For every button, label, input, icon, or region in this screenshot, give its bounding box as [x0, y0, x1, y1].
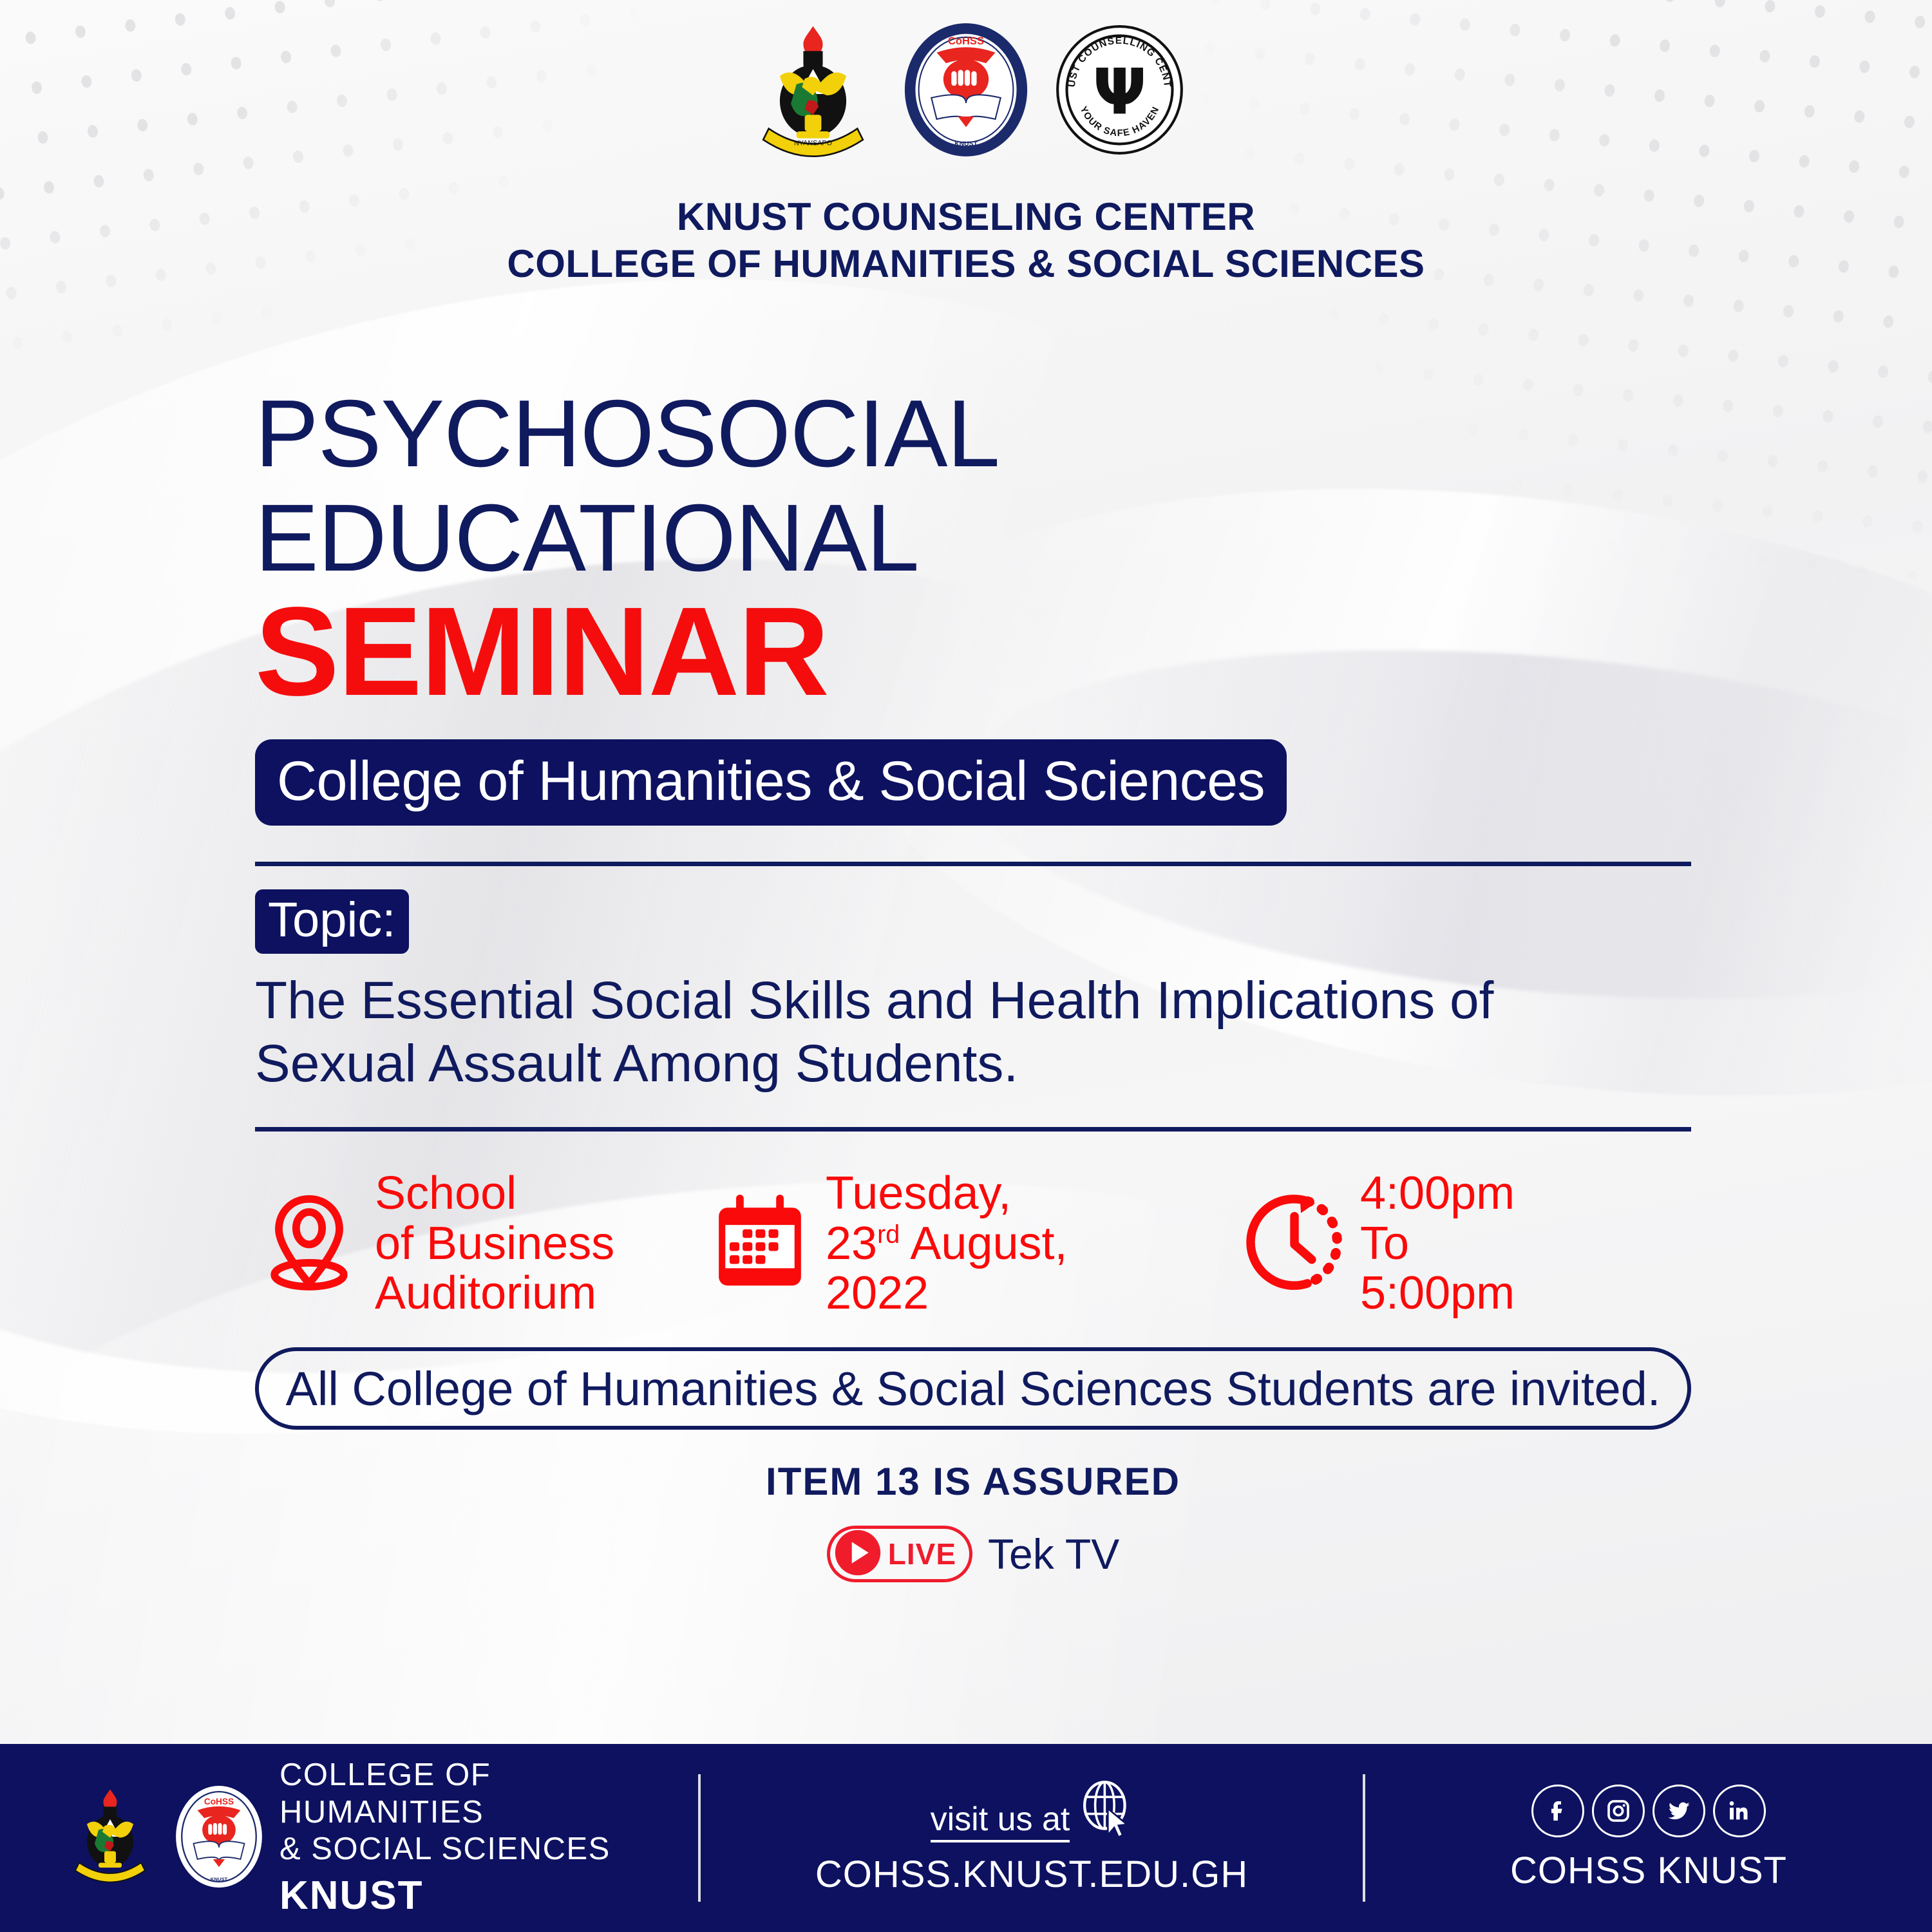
twitter-icon[interactable] [1653, 1785, 1705, 1837]
footer-social-block: COHSS KNUST [1365, 1785, 1932, 1892]
org-name-line2: COLLEGE OF HUMANITIES & SOCIAL SCIENCES [0, 240, 1932, 287]
detail-location: School of Business Auditorium [255, 1169, 706, 1319]
topic-label-text: Topic: [268, 893, 396, 947]
item-13-note: ITEM 13 IS ASSURED [255, 1459, 1691, 1504]
clock-icon [1240, 1188, 1349, 1300]
college-banner: College of Humanities & Social Sciences [255, 739, 1287, 826]
time-end: 5:00pm [1360, 1269, 1515, 1319]
location-pin-icon [255, 1188, 363, 1300]
footer-college-line2: & SOCIAL SCIENCES [279, 1831, 698, 1868]
social-handle: COHSS KNUST [1510, 1849, 1787, 1892]
live-badge: LIVE [827, 1526, 972, 1582]
svg-text:KNUST: KNUST [954, 140, 978, 147]
topic-body-line1: The Essential Social Skills and Health I… [255, 969, 1691, 1032]
event-details-row: School of Business Auditorium [255, 1169, 1691, 1319]
calendar-icon [706, 1188, 814, 1300]
location-line3: Auditorium [375, 1269, 614, 1319]
date-month: August, [910, 1218, 1067, 1269]
footer-left-block: CoHSS KNUST COLLEGE OF HUMANITIES [0, 1757, 698, 1920]
main-content-column: PSYCHOSOCIAL EDUCATIONAL SEMINAR College… [255, 386, 1691, 1582]
date-weekday: Tuesday, [826, 1169, 1068, 1219]
footer-college-line1: COLLEGE OF HUMANITIES [279, 1757, 698, 1832]
poster-canvas: NYANSAPO CoHSS KNUST [0, 0, 1932, 1932]
cohss-seal-logo: CoHSS KNUST [892, 15, 1040, 164]
event-title: PSYCHOSOCIAL EDUCATIONAL SEMINAR [255, 386, 1691, 715]
svg-text:CoHSS: CoHSS [948, 35, 984, 47]
invitation-pill: All College of Humanities & Social Scien… [255, 1347, 1691, 1430]
live-stream-row: LIVE Tek TV [255, 1526, 1691, 1582]
date-text: Tuesday, 23rd August, 2022 [826, 1169, 1068, 1319]
title-highlight-seminar: SEMINAR [255, 589, 1691, 715]
title-line-2: EDUCATIONAL [255, 491, 1691, 586]
footer-website-block: visit us at COHSS.KNUST.EDU.GH [701, 1780, 1363, 1896]
footer-knust-label: KNUST [279, 1872, 698, 1919]
time-separator: To [1360, 1219, 1515, 1269]
play-icon [834, 1529, 882, 1580]
knust-coat-of-arms-logo: NYANSAPO [739, 15, 887, 164]
visit-us-label: visit us at [931, 1803, 1070, 1842]
topic-rule-top [255, 862, 1691, 866]
footer-cohss-seal-icon: CoHSS KNUST [170, 1780, 268, 1897]
organization-names: KNUST COUNSELING CENTER COLLEGE OF HUMAN… [0, 193, 1932, 287]
footer-left-text: COLLEGE OF HUMANITIES & SOCIAL SCIENCES … [279, 1757, 698, 1920]
invitation-text: All College of Humanities & Social Scien… [286, 1361, 1661, 1416]
date-day: 23 [826, 1218, 877, 1269]
detail-date: Tuesday, 23rd August, 2022 [706, 1169, 1240, 1319]
knust-counselling-center-logo: KNUST COUNSELLING CENTER YOUR SAFE HAVEN… [1045, 15, 1193, 164]
linkedin-icon[interactable] [1713, 1785, 1766, 1837]
time-text: 4:00pm To 5:00pm [1360, 1169, 1515, 1319]
social-icon-row [1531, 1785, 1766, 1837]
svg-text:KNUST: KNUST [211, 1876, 228, 1882]
svg-text:Ψ: Ψ [1092, 55, 1146, 129]
instagram-icon[interactable] [1592, 1785, 1645, 1837]
globe-cursor-icon [1079, 1780, 1133, 1842]
topic-rule-bottom [255, 1127, 1691, 1132]
topic-body: The Essential Social Skills and Health I… [255, 969, 1691, 1096]
svg-text:NYANSAPO: NYANSAPO [794, 139, 832, 147]
college-banner-label: College of Humanities & Social Sciences [277, 750, 1265, 812]
topic-body-line2: Sexual Assault Among Students. [255, 1032, 1691, 1095]
live-label: LIVE [888, 1539, 956, 1569]
footer-bar: CoHSS KNUST COLLEGE OF HUMANITIES [0, 1744, 1932, 1932]
visit-row: visit us at [931, 1780, 1133, 1842]
header-logo-row: NYANSAPO CoHSS KNUST [0, 15, 1932, 164]
facebook-icon[interactable] [1531, 1785, 1584, 1837]
svg-text:CoHSS: CoHSS [204, 1796, 234, 1806]
date-year: 2022 [826, 1269, 1068, 1319]
detail-time: 4:00pm To 5:00pm [1240, 1169, 1665, 1319]
topic-label-badge: Topic: [255, 889, 409, 954]
date-ordinal: rd [877, 1220, 900, 1249]
live-channel-name: Tek TV [988, 1529, 1119, 1578]
title-line-1: PSYCHOSOCIAL [255, 386, 1691, 482]
location-text: School of Business Auditorium [375, 1169, 614, 1319]
date-day-month: 23rd August, [826, 1219, 1068, 1269]
org-name-line1: KNUST COUNSELING CENTER [0, 193, 1932, 240]
location-line1: School [375, 1169, 614, 1219]
location-line2: of Business [375, 1219, 614, 1269]
website-url[interactable]: COHSS.KNUST.EDU.GH [815, 1853, 1248, 1896]
footer-knust-coat-of-arms-icon [62, 1780, 158, 1897]
time-start: 4:00pm [1360, 1169, 1515, 1219]
